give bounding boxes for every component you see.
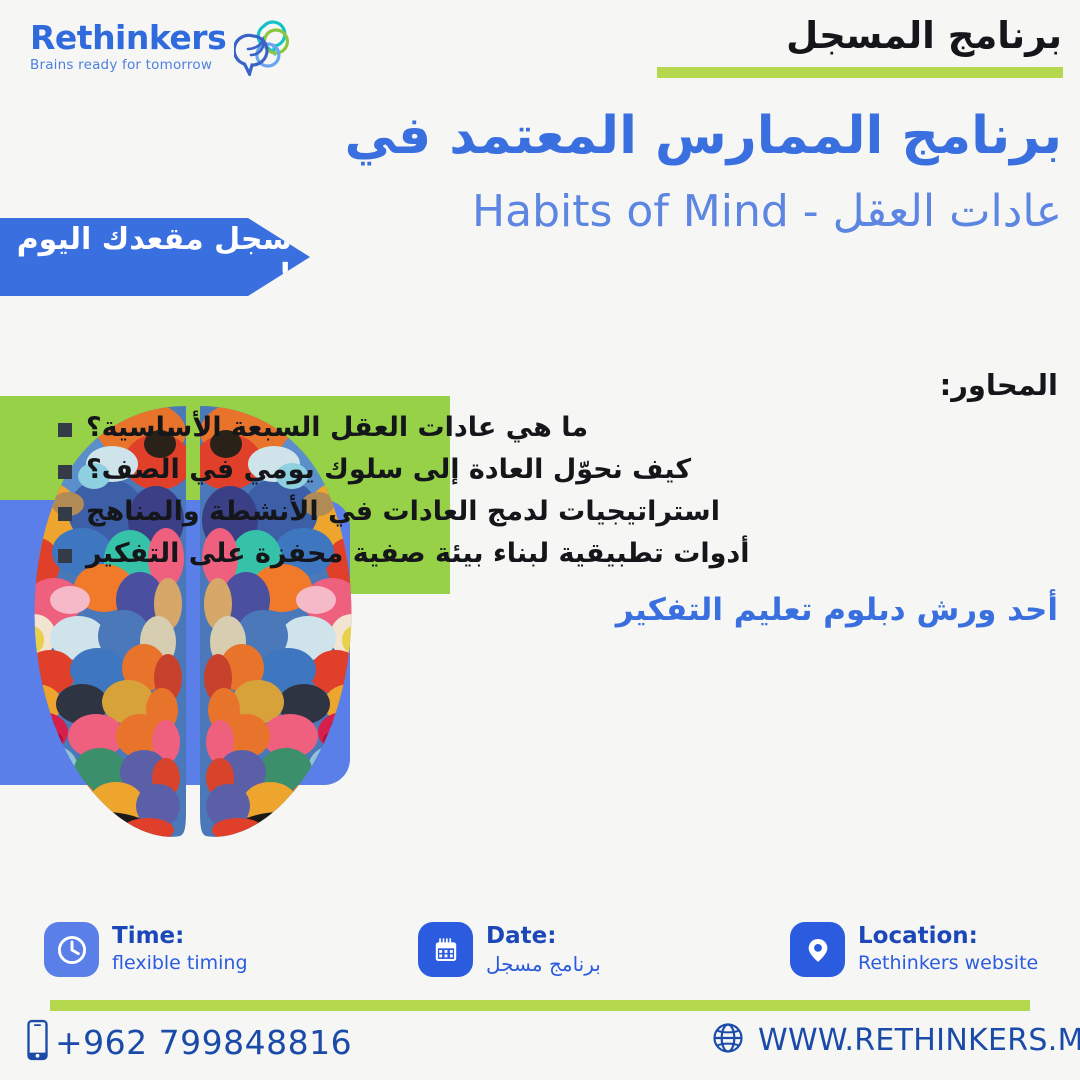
phone-number: +962 799848816 — [55, 1023, 352, 1062]
poster-canvas: Rethinkers Brains ready for tomorrow برن… — [0, 0, 1080, 1080]
topic-text: أدوات تطبيقية لبناء بيئة صفية محفزة على … — [86, 538, 749, 571]
logo-text-block: Rethinkers Brains ready for tomorrow — [30, 21, 226, 73]
topic-text: كيف نحوّل العادة إلى سلوك يومي في الصف؟ — [86, 454, 691, 487]
info-label: Date: — [486, 924, 601, 950]
website-url: WWW.RETHINKERS.ME — [758, 1023, 1080, 1058]
info-text-block: Time: flexible timing — [112, 924, 248, 974]
info-item-location: Location: Rethinkers website — [790, 922, 1038, 977]
info-value: برنامج مسجل — [486, 953, 601, 975]
bullet-square-icon — [58, 465, 72, 479]
logo-tagline: Brains ready for tomorrow — [30, 59, 226, 73]
globe-icon — [710, 1020, 746, 1061]
list-item: ما هي عادات العقل السبعة الأساسية؟ — [58, 412, 1058, 445]
bullet-square-icon — [58, 549, 72, 563]
register-now-ribbon[interactable]: سجل مقعدك اليوم ! — [0, 218, 310, 296]
info-text-block: Location: Rethinkers website — [858, 924, 1038, 974]
info-value: flexible timing — [112, 953, 248, 974]
info-text-block: Date: برنامج مسجل — [486, 924, 601, 975]
workshop-note: أحد ورش دبلوم تعليم التفكير — [616, 592, 1058, 628]
list-item: استراتيجيات لدمج العادات في الأنشطة والم… — [58, 496, 1058, 529]
rethinkers-bubbles-icon — [234, 18, 296, 76]
ribbon-label: سجل مقعدك اليوم ! — [0, 222, 310, 292]
info-label: Location: — [858, 924, 1038, 950]
event-info-row: Time: flexible timing — [0, 922, 1080, 998]
topics-list: ما هي عادات العقل السبعة الأساسية؟ كيف ن… — [58, 412, 1058, 580]
mobile-phone-icon — [24, 1018, 51, 1067]
clock-icon — [44, 922, 99, 977]
bullet-square-icon — [58, 423, 72, 437]
footer-green-rule — [50, 1000, 1030, 1011]
topic-text: ما هي عادات العقل السبعة الأساسية؟ — [86, 412, 588, 445]
page-title: برنامج الممارس المعتمد في — [62, 106, 1062, 166]
topics-heading: المحاور: — [940, 368, 1058, 402]
calendar-icon — [418, 922, 473, 977]
topic-text: استراتيجيات لدمج العادات في الأنشطة والم… — [86, 496, 720, 529]
list-item: أدوات تطبيقية لبناء بيئة صفية محفزة على … — [58, 538, 1058, 571]
list-item: كيف نحوّل العادة إلى سلوك يومي في الصف؟ — [58, 454, 1058, 487]
footer-website[interactable]: WWW.RETHINKERS.ME — [710, 1020, 1080, 1061]
info-value: Rethinkers website — [858, 953, 1038, 974]
header-kicker: برنامج المسجل — [442, 14, 1062, 57]
logo-name: Rethinkers — [30, 21, 226, 54]
header-green-rule — [657, 67, 1063, 78]
bullet-square-icon — [58, 507, 72, 521]
footer-phone[interactable]: +962 799848816 — [24, 1018, 352, 1067]
location-pin-icon — [790, 922, 845, 977]
info-item-date: Date: برنامج مسجل — [418, 922, 601, 977]
info-item-time: Time: flexible timing — [44, 922, 248, 977]
brand-logo[interactable]: Rethinkers Brains ready for tomorrow — [30, 18, 296, 76]
info-label: Time: — [112, 924, 248, 950]
